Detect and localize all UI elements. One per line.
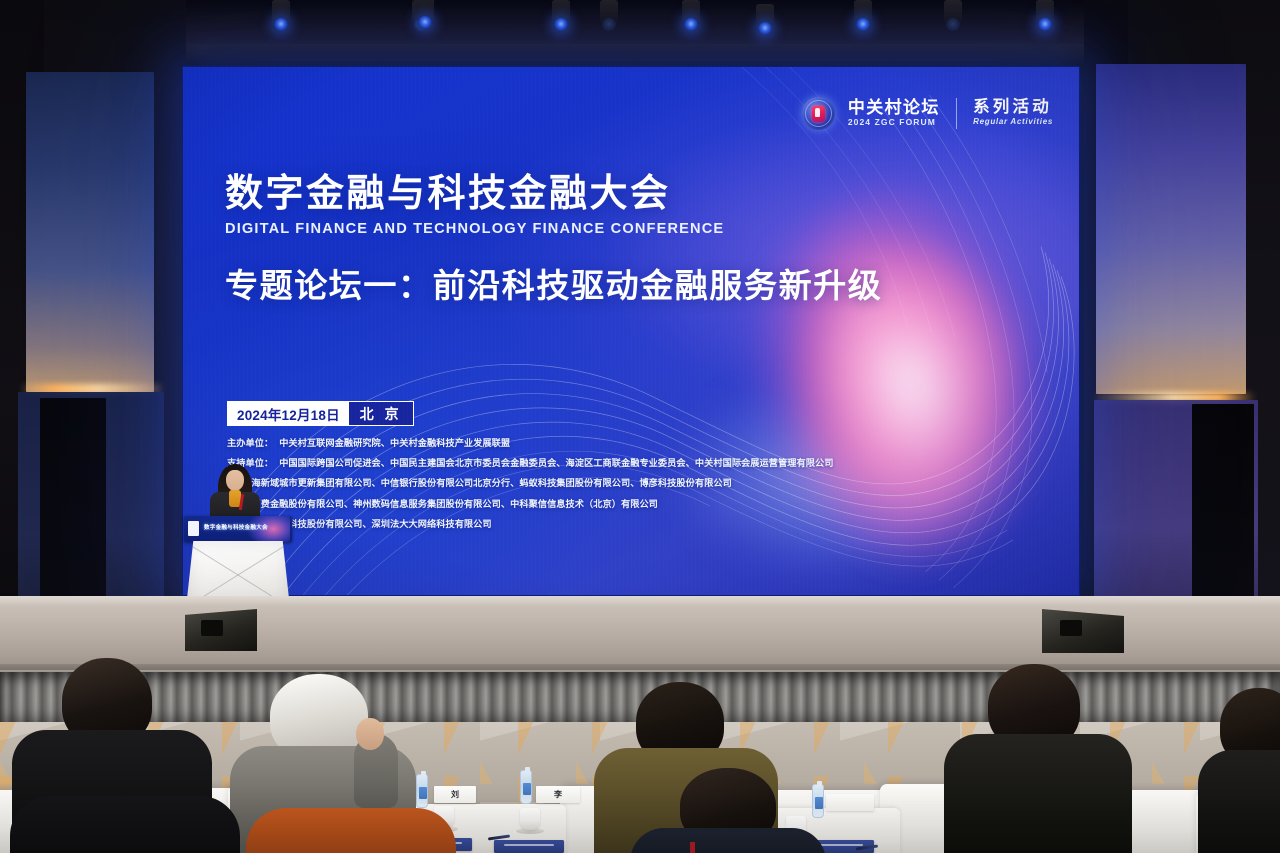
person-lanyard — [690, 842, 695, 853]
speaker-person — [204, 464, 266, 522]
organizer-text: 马上消费金融股份有限公司、神州数码信息服务集团股份有限公司、中科聚信信息技术（北… — [233, 499, 658, 509]
stage-light-icon — [548, 0, 574, 40]
person-torso — [1198, 750, 1280, 853]
person-torso — [630, 828, 826, 853]
stage-light-icon — [940, 0, 966, 40]
audience-person — [944, 664, 1128, 853]
led-screen: 中关村论坛 2024 ZGC FORUM 系列活动 Regular Activi… — [182, 66, 1080, 596]
name-card: 李 — [536, 786, 580, 803]
person-torso — [944, 734, 1132, 853]
organizer-line: 马上消费金融股份有限公司、神州数码信息服务集团股份有限公司、中科聚信信息技术（北… — [227, 500, 833, 509]
forum-subtitle-cn: 专题论坛一：前沿科技驱动金融服务新升级 — [225, 259, 882, 307]
organizer-text: 中关村互联网金融研究院、中关村金融科技产业发展联盟 — [279, 438, 510, 448]
audience-person-front — [10, 784, 240, 853]
audience-person — [1206, 688, 1280, 853]
audience-person-front — [636, 768, 816, 853]
date-location-badge: 2024年12月18日 北 京 — [227, 401, 414, 426]
organizer-line: 主办单位：中关村互联网金融研究院、中关村金融科技产业发展联盟 — [227, 439, 833, 448]
podium: 数字金融与科技金融大会 — [184, 516, 292, 608]
wall-panel-lit-left — [26, 72, 154, 392]
person-torso — [10, 796, 240, 853]
brand-en-primary: 2024 ZGC FORUM — [848, 117, 940, 128]
organizer-list: 主办单位：中关村互联网金融研究院、中关村金融科技产业发展联盟 支持单位：中国国际… — [227, 439, 833, 540]
audience-person-front — [246, 798, 456, 853]
stage-light-icon — [1032, 0, 1058, 40]
stage-light-icon — [268, 0, 294, 40]
event-date: 2024年12月18日 — [228, 402, 349, 425]
organizer-label: 主办单位： — [227, 438, 273, 448]
brand-cn-primary: 中关村论坛 — [848, 99, 940, 117]
person-torso — [246, 808, 456, 853]
zgc-forum-emblem-icon — [802, 97, 835, 130]
table-placard — [494, 840, 564, 853]
podium-banner: 数字金融与科技金融大会 — [184, 516, 292, 542]
event-city: 北 京 — [349, 402, 413, 425]
stage-light-icon — [678, 0, 704, 40]
stage-light-icon — [596, 0, 622, 40]
organizer-text: 中国国际跨国公司促进会、中国民主建国会北京市委员会金融委员会、海淀区工商联金融专… — [279, 458, 833, 468]
organizer-text: 北京海新域城市更新集团有限公司、中信银行股份有限公司北京分行、蚂蚁科技集团股份有… — [233, 478, 732, 488]
conference-hall-scene: 中关村论坛 2024 ZGC FORUM 系列活动 Regular Activi… — [0, 0, 1280, 853]
forum-brand-lockup: 中关村论坛 2024 ZGC FORUM 系列活动 Regular Activi… — [802, 97, 1053, 130]
speaker-face — [226, 470, 244, 491]
person-hand — [356, 718, 384, 750]
conference-title-cn: 数字金融与科技金融大会 — [225, 173, 882, 216]
organizer-line: 上海合合信息科技股份有限公司、深圳法大大网络科技有限公司 — [227, 520, 833, 529]
screen-title-block: 数字金融与科技金融大会 DIGITAL FINANCE AND TECHNOLO… — [225, 173, 882, 307]
name-card-text: 李 — [554, 789, 562, 800]
right-wall — [1084, 0, 1280, 680]
name-card — [826, 794, 874, 811]
conference-title-en: DIGITAL FINANCE AND TECHNOLOGY FINANCE C… — [225, 221, 882, 237]
brand-cn-secondary: 系列活动 — [973, 99, 1053, 117]
organizer-line: 支持单位：中国国际跨国公司促进会、中国民主建国会北京市委员会金融委员会、海淀区工… — [227, 459, 833, 468]
water-bottle — [520, 770, 532, 804]
organizer-line: 北京海新域城市更新集团有限公司、中信银行股份有限公司北京分行、蚂蚁科技集团股份有… — [227, 479, 833, 488]
brand-en-secondary: Regular Activities — [973, 117, 1053, 128]
stage-light-icon — [752, 4, 778, 44]
stage-light-icon — [412, 0, 438, 38]
audience-foreground: 刘 李 — [0, 640, 1280, 853]
left-wall — [0, 0, 186, 680]
tea-cup — [520, 808, 540, 830]
wall-panel-lit-right — [1096, 64, 1246, 394]
stage-light-icon — [850, 0, 876, 40]
brand-divider — [956, 98, 957, 129]
podium-banner-text: 数字金融与科技金融大会 — [204, 523, 284, 531]
